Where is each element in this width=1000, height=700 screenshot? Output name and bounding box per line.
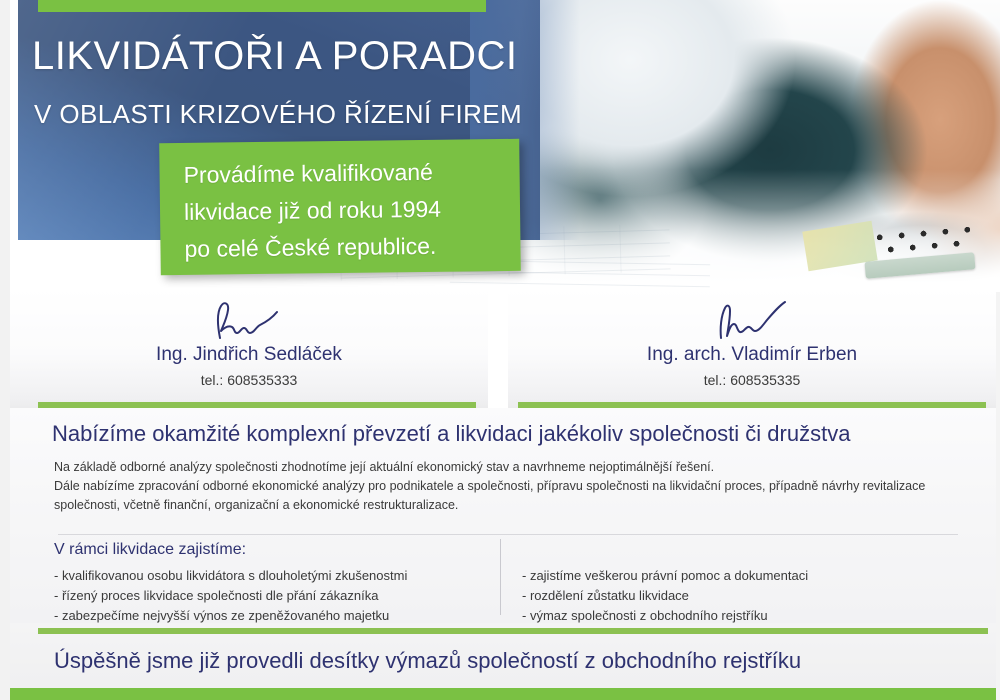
- footer-top-green-bar: [38, 628, 988, 634]
- hero-banner: LIKVIDÁTOŘI A PORADCI V OBLASTI KRIZOVÉH…: [0, 0, 1000, 292]
- contacts-row: Ing. Jindřich Sedláček tel.: 608535333 I…: [10, 288, 996, 408]
- content-section: Nabízíme okamžité komplexní převzetí a l…: [10, 408, 996, 623]
- contact-card-sedlacek: Ing. Jindřich Sedláček tel.: 608535333: [10, 288, 488, 408]
- contact-phone[interactable]: tel.: 608535333: [10, 372, 488, 388]
- content-headline: Nabízíme okamžité komplexní převzetí a l…: [52, 421, 850, 447]
- green-callout-box: Provádíme kvalifikované likvidace již od…: [159, 139, 521, 275]
- list-item: - řízený proces likvidace společnosti dl…: [54, 586, 484, 606]
- hero-subtitle: V OBLASTI KRIZOVÉHO ŘÍZENÍ FIREM: [34, 99, 594, 130]
- bullets-column-divider: [500, 539, 501, 615]
- footer-headline: Úspěšně jsme již provedli desítky výmazů…: [54, 648, 801, 674]
- callout-line-1: Provádíme kvalifikované: [183, 153, 499, 194]
- signature-icon-erben: [508, 296, 996, 342]
- bullet-list-right: - zajistíme veškerou právní pomoc a doku…: [522, 566, 962, 626]
- footer-bottom-green-bar: [10, 688, 996, 700]
- hero-top-green-bar: [38, 0, 486, 12]
- contact-name: Ing. arch. Vladimír Erben: [508, 344, 996, 366]
- list-item: - zajistíme veškerou právní pomoc a doku…: [522, 566, 962, 586]
- contact-name: Ing. Jindřich Sedláček: [10, 344, 488, 366]
- hero-title: LIKVIDÁTOŘI A PORADCI: [32, 35, 592, 77]
- contact-phone[interactable]: tel.: 608535335: [508, 372, 996, 388]
- poster-page: LIKVIDÁTOŘI A PORADCI V OBLASTI KRIZOVÉH…: [0, 0, 1000, 700]
- body-paragraph-2: Dále nabízíme zpracování odborné ekonomi…: [54, 477, 954, 515]
- list-item: - kvalifikovanou osobu likvidátora s dlo…: [54, 566, 484, 586]
- footer-banner: Úspěšně jsme již provedli desítky výmazů…: [10, 623, 996, 700]
- content-subheading: V rámci likvidace zajistíme:: [54, 541, 246, 559]
- content-divider-rule: [58, 534, 958, 535]
- bullet-list-left: - kvalifikovanou osobu likvidátora s dlo…: [54, 566, 484, 626]
- list-item: - rozdělení zůstatku likvidace: [522, 586, 962, 606]
- signature-icon-sedlacek: [10, 296, 488, 342]
- body-paragraph-1: Na základě odborné analýzy společnosti z…: [54, 458, 954, 477]
- callout-line-3: po celé České republice.: [184, 227, 500, 268]
- callout-line-2: likvidace již od roku 1994: [184, 190, 500, 231]
- contact-card-erben: Ing. arch. Vladimír Erben tel.: 60853533…: [508, 288, 996, 408]
- content-body: Na základě odborné analýzy společnosti z…: [54, 458, 954, 515]
